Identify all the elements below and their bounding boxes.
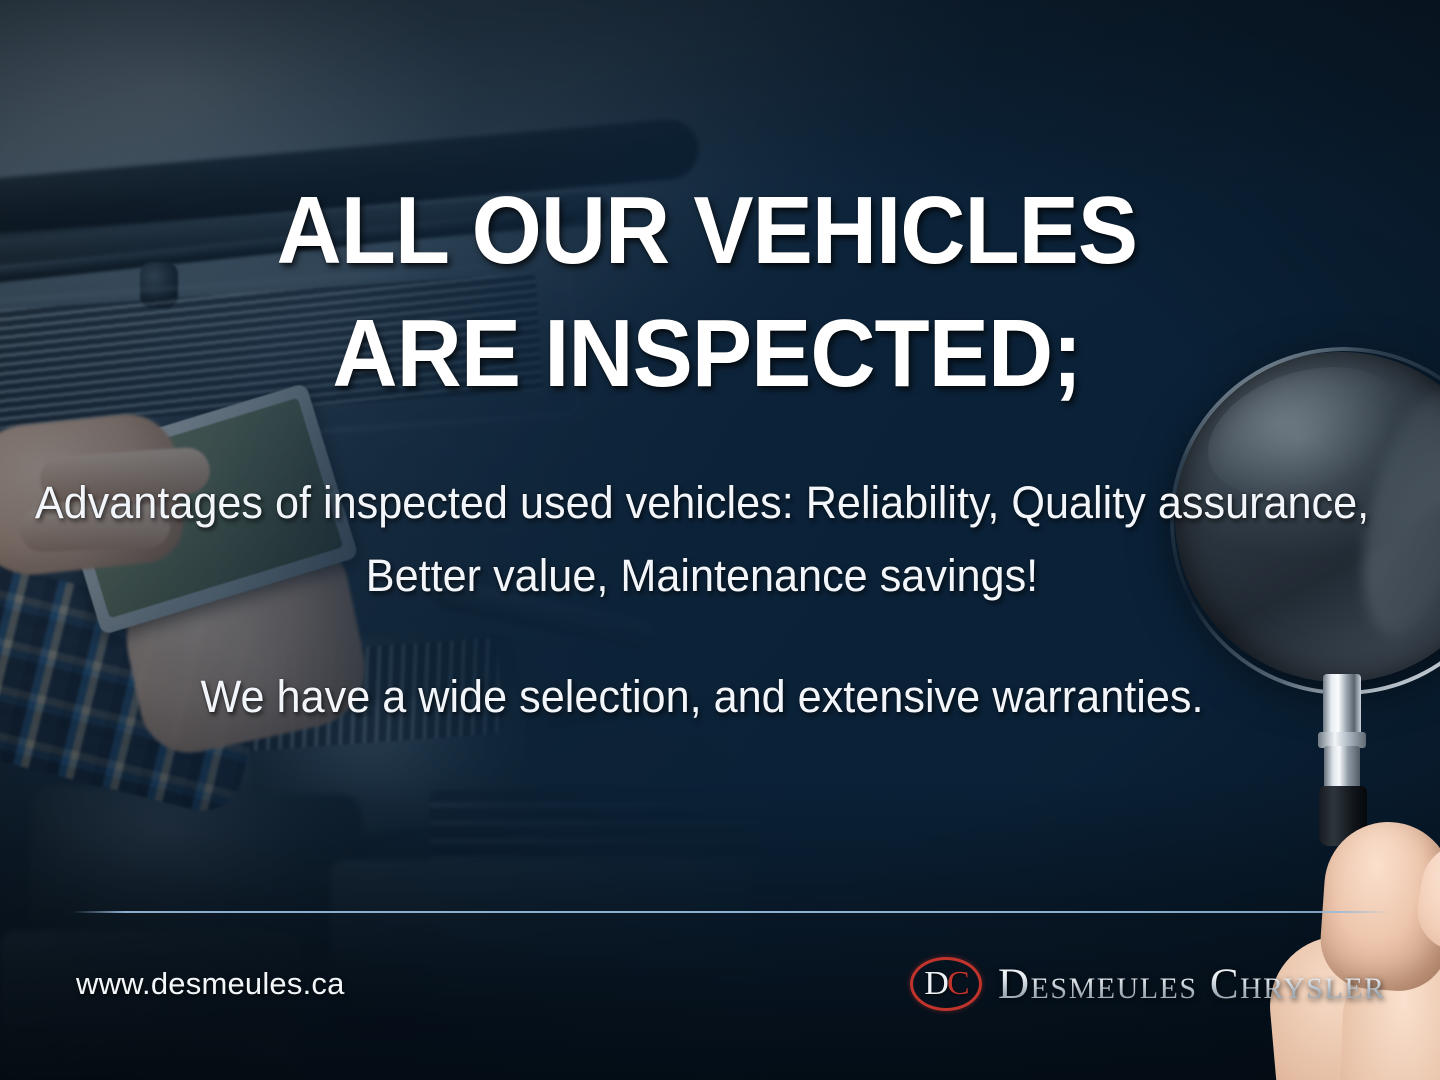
promo-slide: ALL OUR VEHICLES ARE INSPECTED; Advantag… xyxy=(0,0,1440,1080)
body-text-block: Advantages of inspected used vehicles: R… xyxy=(0,422,1440,779)
headline: ALL OUR VEHICLES ARE INSPECTED; xyxy=(43,170,1397,416)
headline-line-2: ARE INSPECTED; xyxy=(43,293,1370,416)
body-paragraph-1: Advantages of inspected used vehicles: R… xyxy=(28,467,1376,613)
slide-content: ALL OUR VEHICLES ARE INSPECTED; Advantag… xyxy=(0,0,1440,1080)
headline-line-1: ALL OUR VEHICLES xyxy=(276,177,1137,284)
body-paragraph-2: We have a wide selection, and extensive … xyxy=(28,661,1376,734)
